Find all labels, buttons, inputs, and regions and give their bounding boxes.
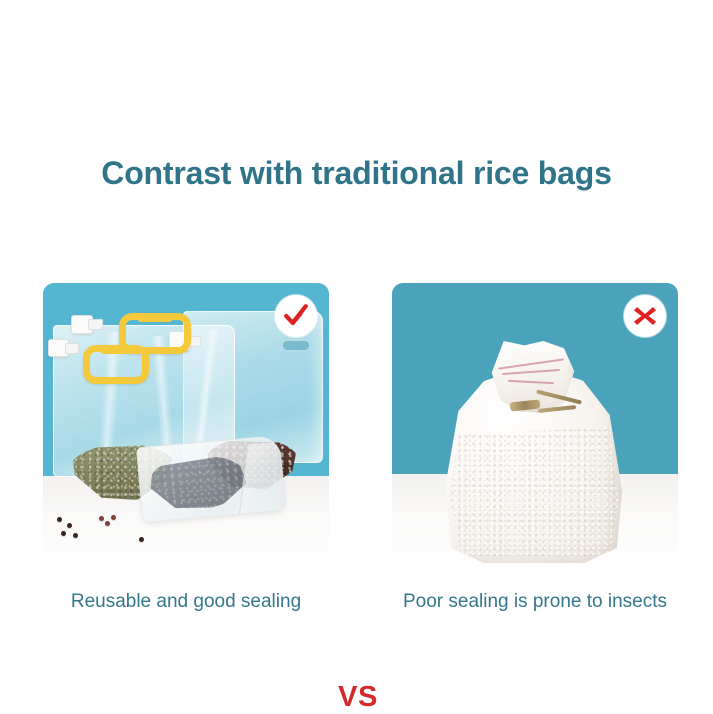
loose-bean — [73, 533, 78, 538]
panel-traditional-sack: ✖ — [392, 283, 678, 571]
loose-bean — [61, 531, 66, 536]
red-cross-icon — [632, 303, 658, 329]
open-bag-with-black-beans — [136, 435, 286, 523]
panel-reusable-bag: ✔ — [43, 283, 329, 571]
caption-traditional-sack: Poor sealing is prone to insects — [370, 591, 700, 613]
loose-bean — [111, 515, 116, 520]
yellow-carry-handle — [83, 345, 149, 384]
red-check-icon — [283, 303, 309, 329]
black-beans — [148, 453, 248, 513]
check-badge: ✔ — [275, 295, 317, 337]
white-spout-neck — [65, 343, 79, 354]
white-spout-neck — [88, 319, 103, 330]
white-rice — [448, 427, 620, 563]
traditional-rice-sack-photo — [444, 341, 624, 563]
loose-bean — [67, 523, 72, 528]
bag-handle-slot — [282, 340, 310, 351]
caption-reusable-bag: Reusable and good sealing — [43, 591, 329, 613]
loose-bean — [99, 516, 104, 521]
fabric-stripe — [502, 369, 560, 375]
bag-crease — [151, 336, 176, 459]
loose-bean — [105, 521, 110, 526]
vs-label: VS — [330, 681, 386, 714]
fabric-stripe — [508, 380, 554, 384]
loose-bean — [139, 537, 144, 542]
bag-crease — [193, 330, 220, 451]
product-comparison-image: Contrast with traditional rice bags — [0, 0, 713, 713]
comparison-row: ✔ — [0, 283, 713, 573]
handle-notch — [137, 316, 173, 322]
page-title: Contrast with traditional rice bags — [0, 155, 713, 192]
handle-notch — [100, 348, 132, 354]
fabric-stripe — [498, 358, 564, 369]
bag-open-mouth — [239, 441, 286, 516]
loose-bean — [57, 517, 62, 522]
cross-badge: ✖ — [624, 295, 666, 337]
